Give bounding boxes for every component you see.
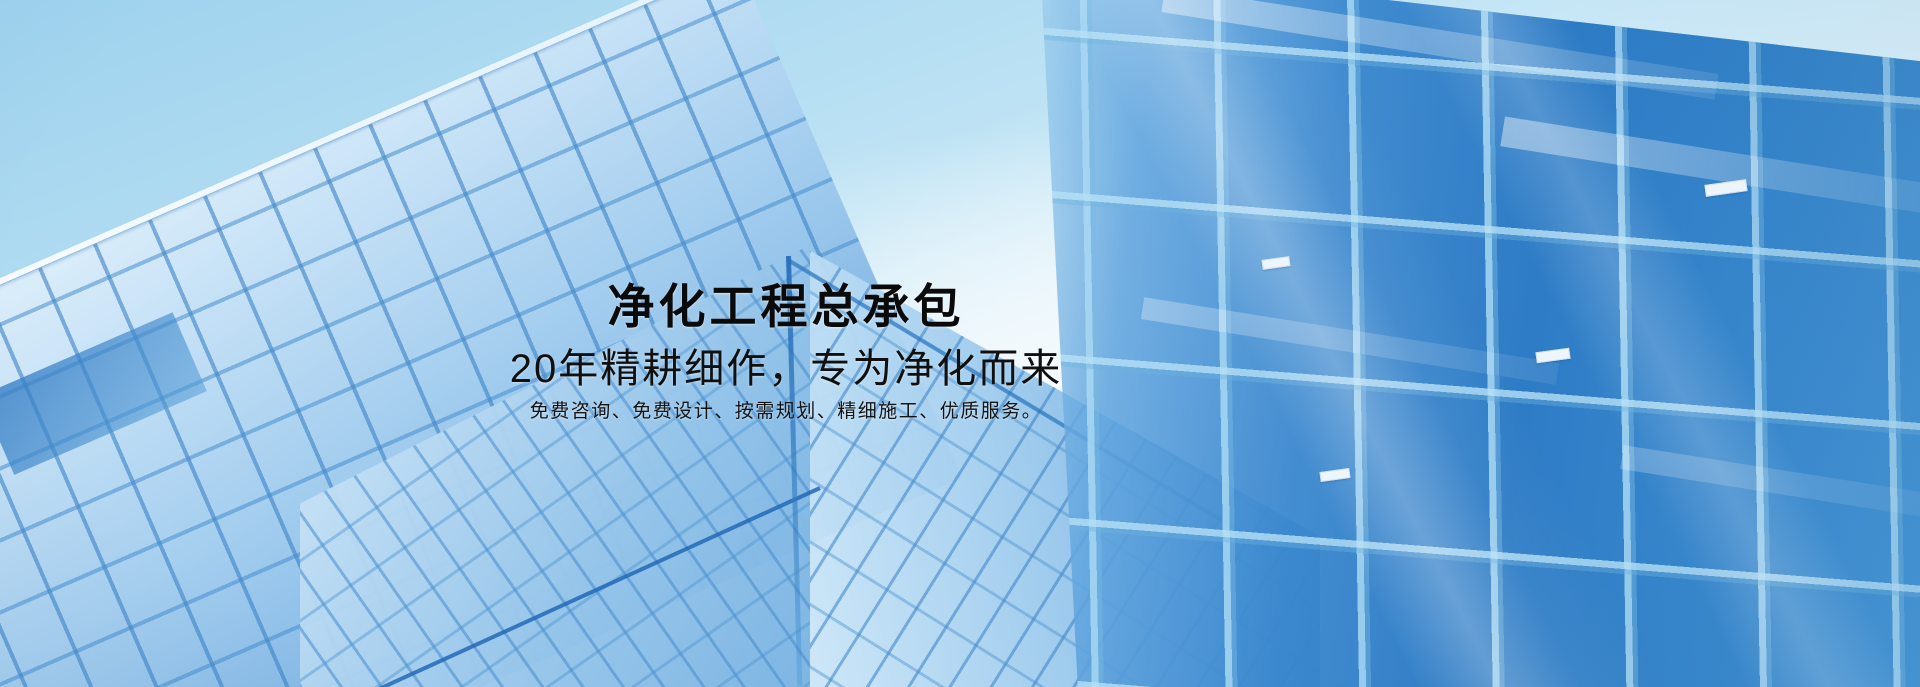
right-glass-tower	[1040, 0, 1920, 687]
hero-banner: 净化工程总承包 20年精耕细作，专为净化而来 免费咨询、免费设计、按需规划、精细…	[0, 0, 1920, 687]
